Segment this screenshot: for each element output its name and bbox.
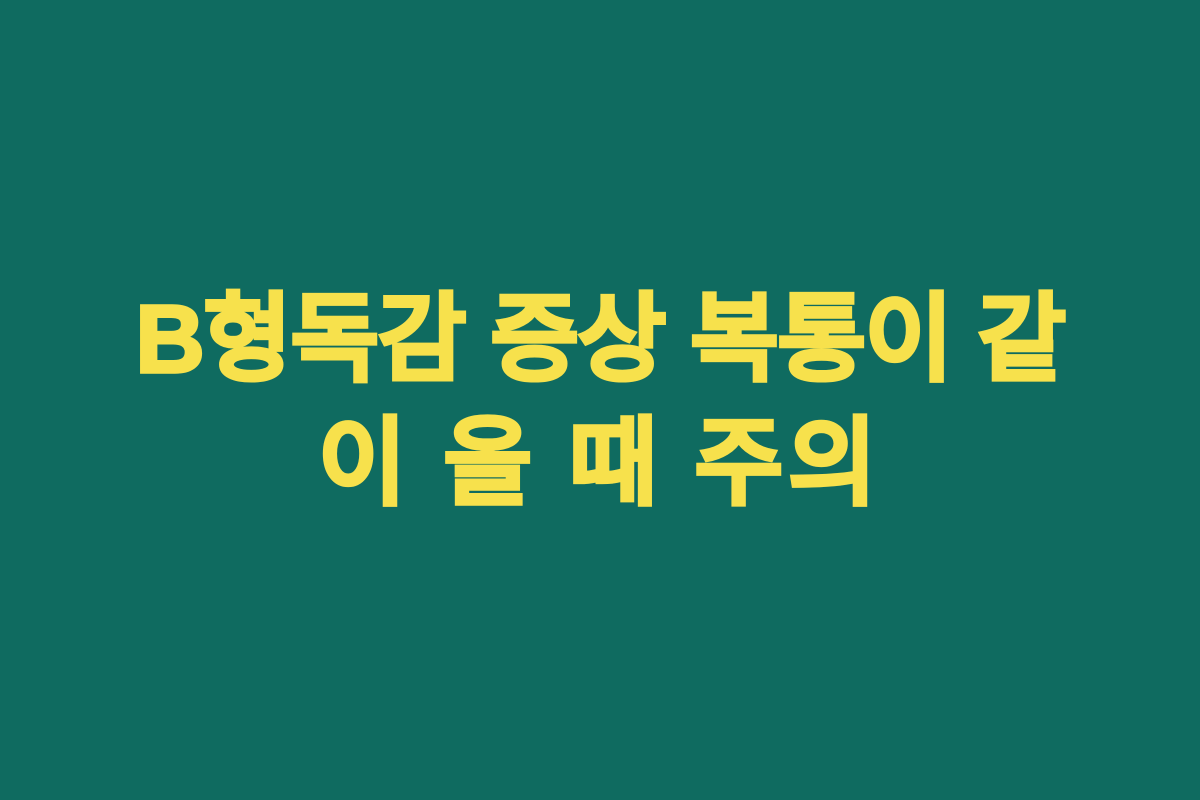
headline-line-1: B형독감 증상 복통이 같 <box>135 292 1064 388</box>
thumbnail-banner: B형독감 증상 복통이 같 이 올 때 주의 <box>0 0 1200 800</box>
headline-line-2: 이 올 때 주의 <box>318 416 882 512</box>
headline-block: B형독감 증상 복통이 같 이 올 때 주의 <box>0 292 1200 512</box>
